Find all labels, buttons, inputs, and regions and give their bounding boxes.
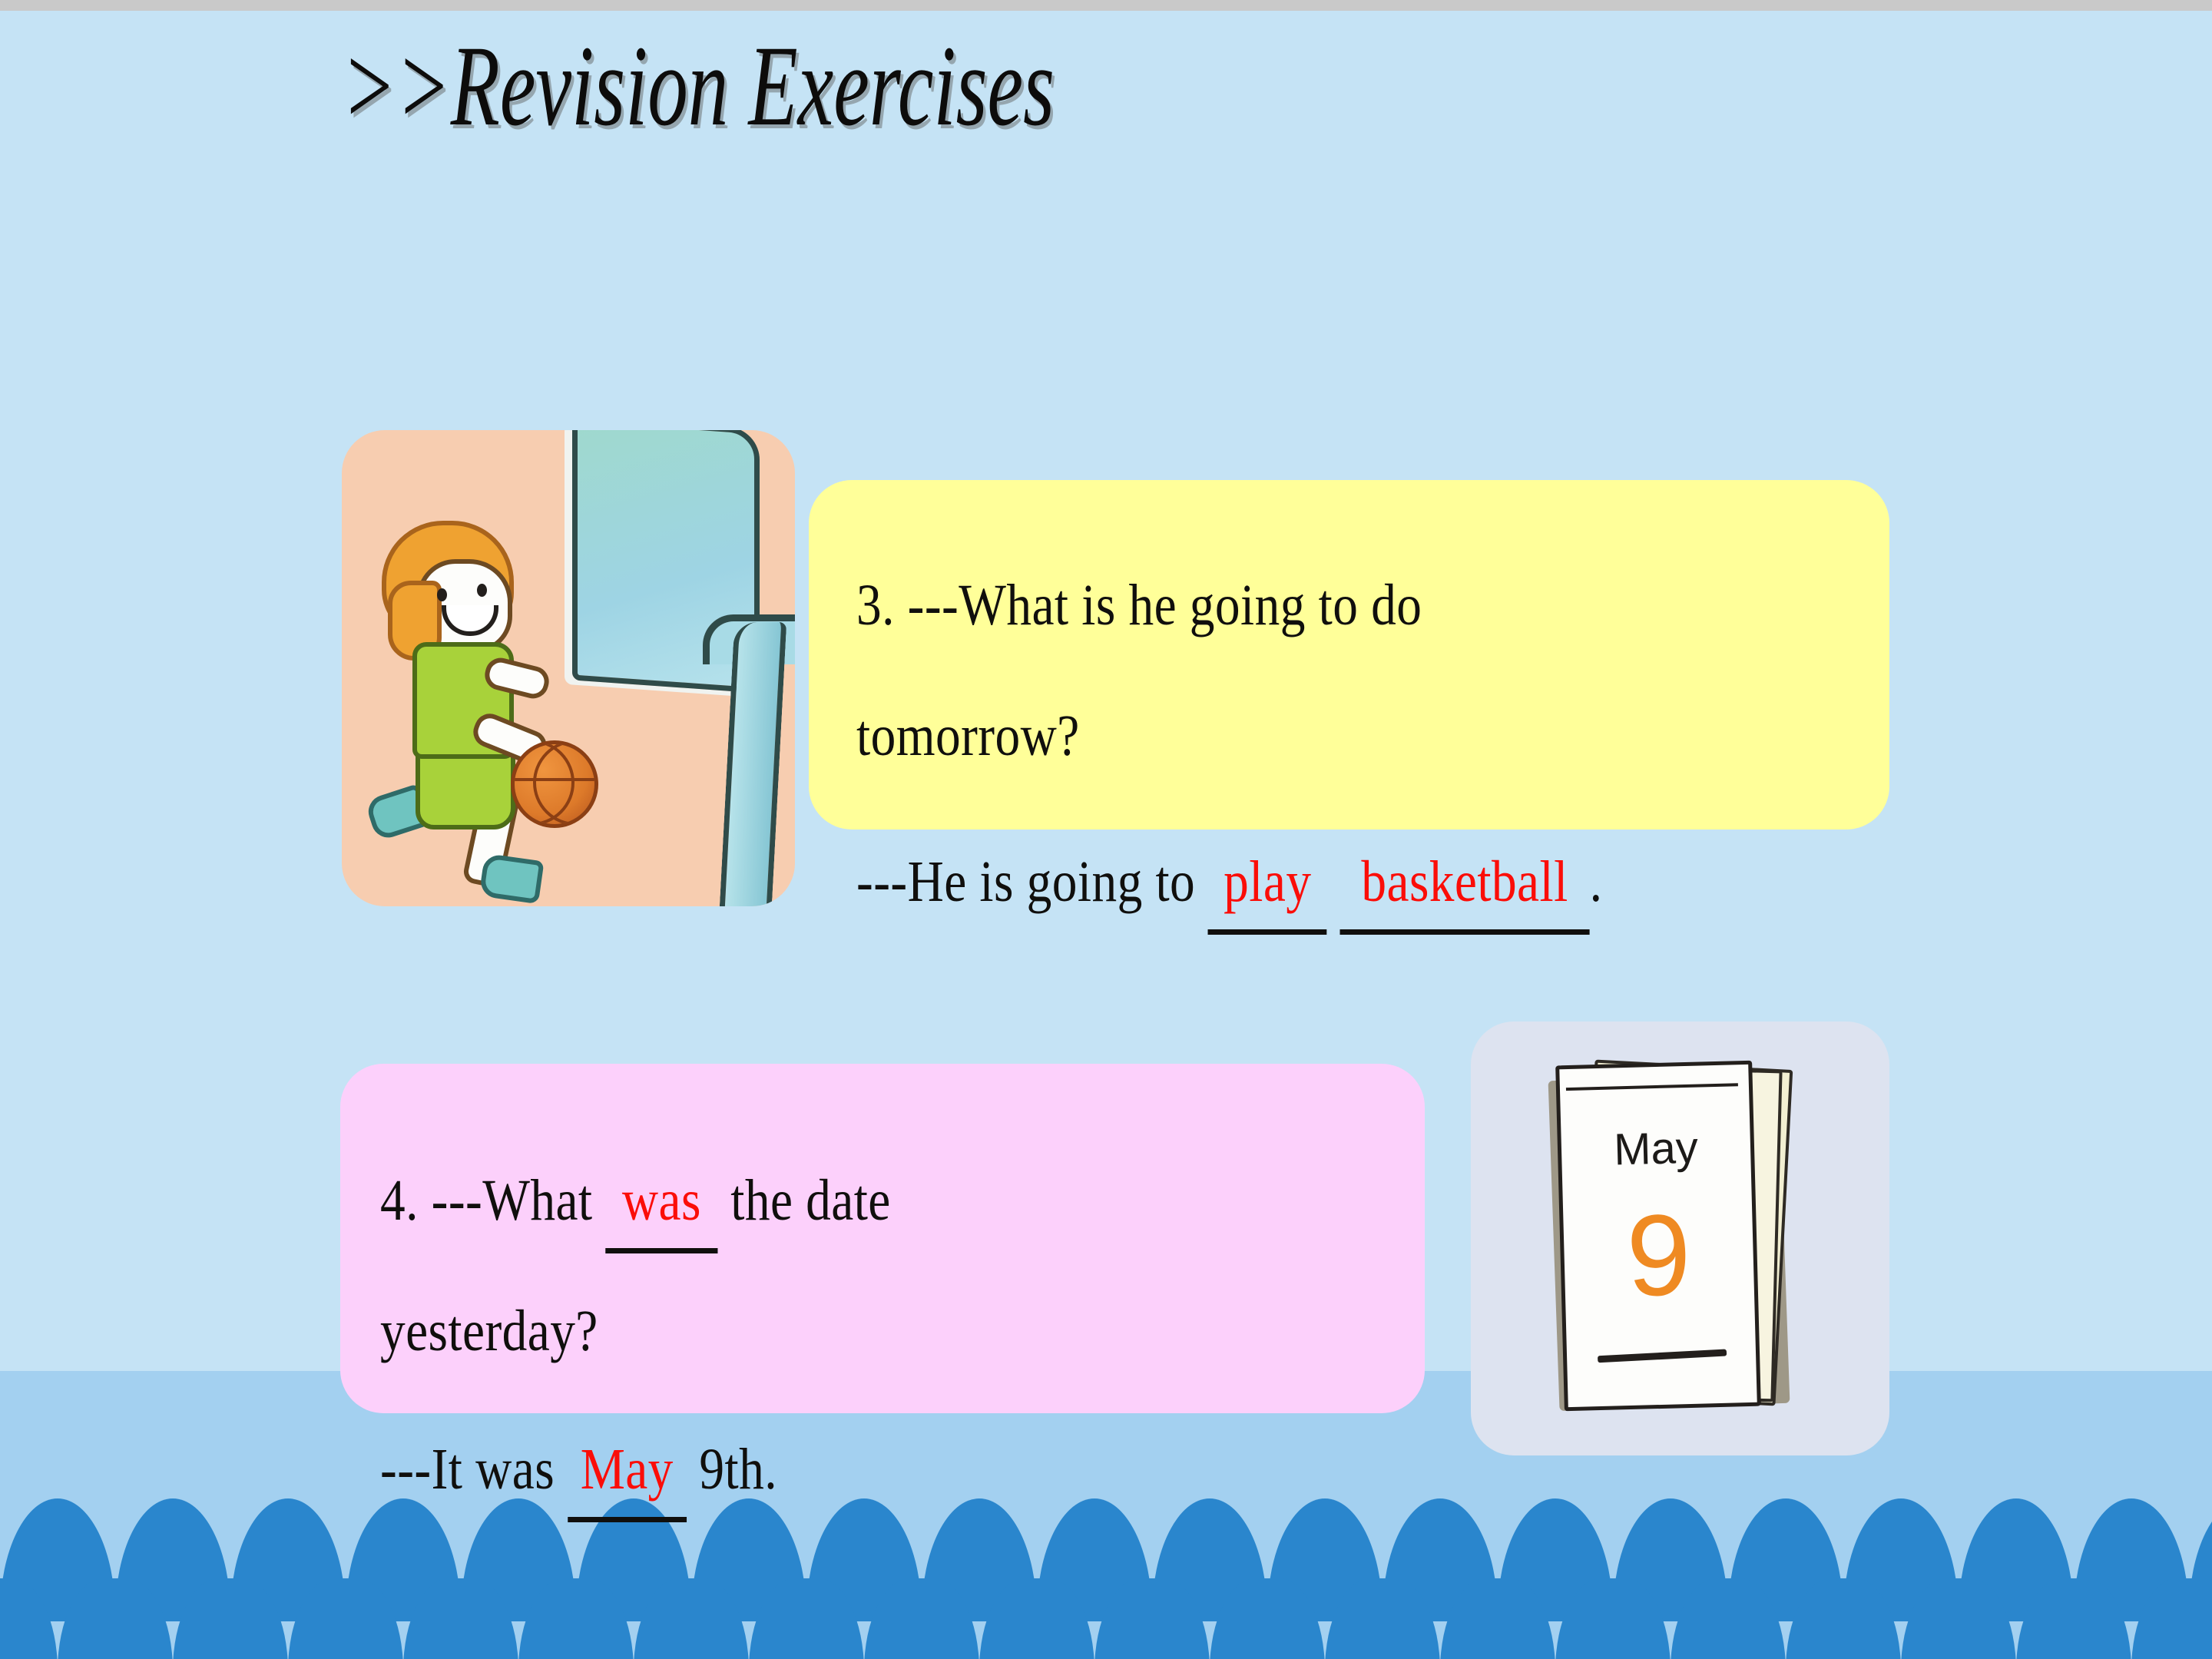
question4-blank-may[interactable]: May <box>568 1425 687 1522</box>
page-title: >>Revision Exercises <box>342 23 1055 150</box>
arch-shape <box>1786 1578 1901 1659</box>
arch-shape <box>634 1578 749 1659</box>
calendar-day-label: 9 <box>1563 1195 1755 1315</box>
question3-line1: 3. ---What is he going to do <box>856 561 1422 651</box>
question4-blank-was[interactable]: was <box>605 1156 717 1253</box>
question3-blank-basketball[interactable]: basketball <box>1339 837 1589 935</box>
top-strip <box>0 0 2212 11</box>
calendar-image: May 9 <box>1471 1022 1889 1455</box>
calendar-rule-shape <box>1598 1349 1727 1363</box>
question4-line1: 4. ---What was the date <box>380 1156 891 1253</box>
question3-blank-play[interactable]: play <box>1208 837 1327 935</box>
arch-shape <box>58 1578 173 1659</box>
calendar-front-page: May 9 <box>1555 1061 1761 1412</box>
arch-shape <box>403 1578 518 1659</box>
boy-eye-left-shape <box>437 588 447 601</box>
arch-shape <box>864 1578 979 1659</box>
question4-answer-suffix: 9th. <box>687 1437 777 1502</box>
calendar-top-edge-shape <box>1565 1069 1737 1091</box>
arch-shape <box>1094 1578 1210 1659</box>
arch-shape <box>1210 1578 1325 1659</box>
arch-shape <box>1440 1578 1555 1659</box>
question4-answer: ---It was May 9th. <box>380 1425 777 1522</box>
question4-line1-after: the date <box>717 1168 890 1233</box>
arch-shape <box>1555 1578 1671 1659</box>
arch-shape <box>518 1578 634 1659</box>
boy-shoe-front-shape <box>478 853 544 904</box>
question4-line2: yesterday? <box>380 1286 598 1377</box>
arch-shape <box>979 1578 1094 1659</box>
question3-answer-gap <box>1327 849 1340 914</box>
boy-eye-right-shape <box>477 584 487 597</box>
question3-answer-prefix: ---He is going to <box>856 849 1208 914</box>
slide-canvas: >>Revision Exercises 3. ---What is he go… <box>0 0 2212 1659</box>
basketball-image <box>342 430 795 906</box>
question4-answer-prefix: ---It was <box>380 1437 568 1502</box>
question3-answer-suffix: . <box>1590 849 1603 914</box>
arch-shape <box>749 1578 864 1659</box>
arch-shape <box>173 1578 288 1659</box>
basketball-ball-shape <box>511 740 598 828</box>
arch-shape <box>1901 1578 2016 1659</box>
arch-shape <box>2016 1578 2131 1659</box>
arch-shape <box>2131 1578 2212 1659</box>
arch-shape <box>288 1578 403 1659</box>
question3-line2: tomorrow? <box>856 691 1080 782</box>
scallop-row-front <box>0 1578 2154 1659</box>
question3-answer: ---He is going to play basketball. <box>856 837 1602 935</box>
arch-shape <box>0 1578 58 1659</box>
question4-line1-before: 4. ---What <box>380 1168 605 1233</box>
arch-shape <box>1325 1578 1440 1659</box>
arch-shape <box>1671 1578 1786 1659</box>
ball-seam-shape <box>515 778 594 781</box>
calendar-month-label: May <box>1561 1124 1750 1174</box>
